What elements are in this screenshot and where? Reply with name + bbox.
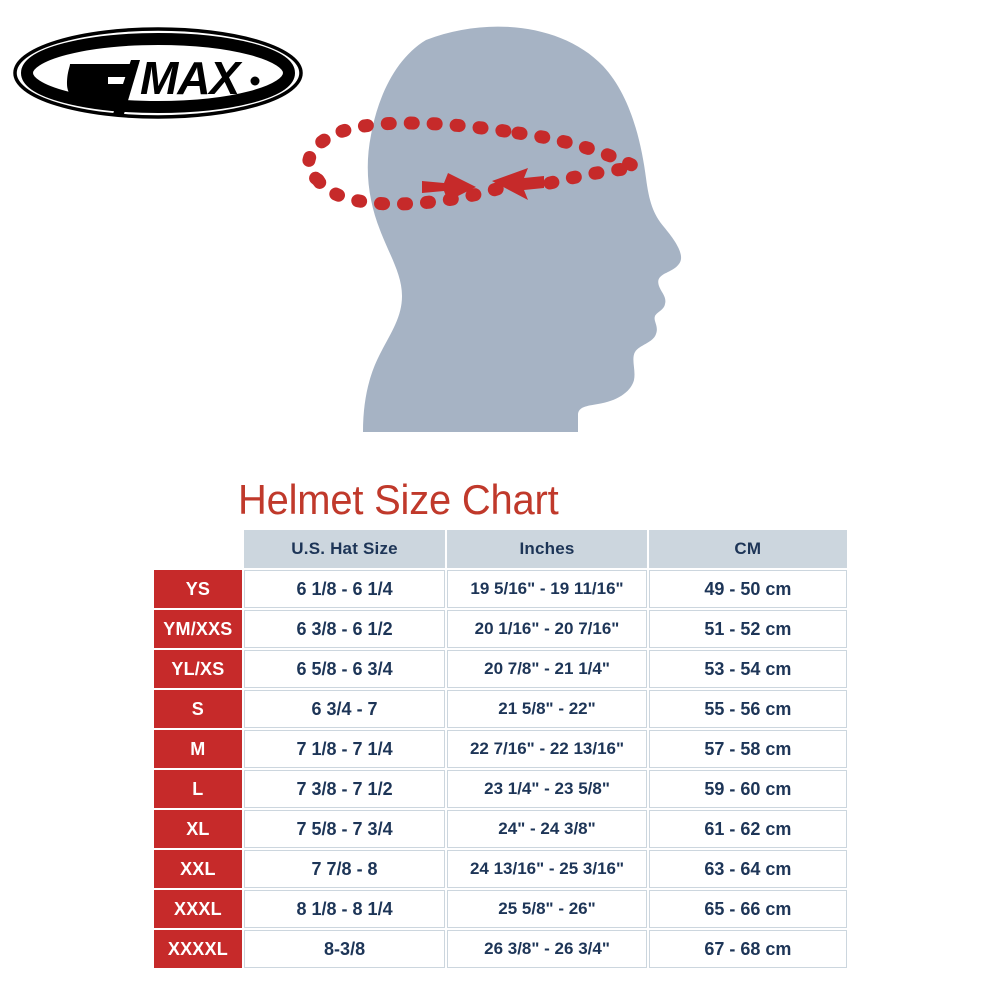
size-label: L — [154, 770, 242, 808]
cm-value: 51 - 52 cm — [649, 610, 847, 648]
cm-value: 49 - 50 cm — [649, 570, 847, 608]
size-label: XXXL — [154, 890, 242, 928]
gmax-logo: MAX — [12, 24, 304, 122]
helmet-size-table: U.S. Hat Size Inches CM YS 6 1/8 - 6 1/4… — [152, 528, 849, 970]
inches-value: 21 5/8" - 22" — [447, 690, 646, 728]
inches-value: 23 1/4" - 23 5/8" — [447, 770, 646, 808]
hat-size-value: 7 5/8 - 7 3/4 — [244, 810, 446, 848]
table-row: YL/XS 6 5/8 - 6 3/4 20 7/8" - 21 1/4" 53… — [154, 650, 847, 688]
cm-value: 53 - 54 cm — [649, 650, 847, 688]
head-measurement-diagram — [278, 18, 728, 458]
inches-value: 25 5/8" - 26" — [447, 890, 646, 928]
hat-size-value: 7 3/8 - 7 1/2 — [244, 770, 446, 808]
inches-value: 24 13/16" - 25 3/16" — [447, 850, 646, 888]
table-row: L 7 3/8 - 7 1/2 23 1/4" - 23 5/8" 59 - 6… — [154, 770, 847, 808]
hat-size-value: 8-3/8 — [244, 930, 446, 968]
table-header-row: U.S. Hat Size Inches CM — [154, 530, 847, 568]
hat-size-value: 6 5/8 - 6 3/4 — [244, 650, 446, 688]
cm-value: 61 - 62 cm — [649, 810, 847, 848]
size-label: YM/XXS — [154, 610, 242, 648]
page-root: MAX Helmet Si — [0, 0, 1000, 1000]
table-row: XXXXL 8-3/8 26 3/8" - 26 3/4" 67 - 68 cm — [154, 930, 847, 968]
size-label: S — [154, 690, 242, 728]
size-label: YS — [154, 570, 242, 608]
header-cm: CM — [649, 530, 847, 568]
table-row: XXL 7 7/8 - 8 24 13/16" - 25 3/16" 63 - … — [154, 850, 847, 888]
header-hat-size: U.S. Hat Size — [244, 530, 446, 568]
cm-value: 55 - 56 cm — [649, 690, 847, 728]
hat-size-value: 8 1/8 - 8 1/4 — [244, 890, 446, 928]
size-label: XL — [154, 810, 242, 848]
inches-value: 22 7/16" - 22 13/16" — [447, 730, 646, 768]
hat-size-value: 6 1/8 - 6 1/4 — [244, 570, 446, 608]
cm-value: 57 - 58 cm — [649, 730, 847, 768]
header-inches: Inches — [447, 530, 646, 568]
table-row: S 6 3/4 - 7 21 5/8" - 22" 55 - 56 cm — [154, 690, 847, 728]
table-row: M 7 1/8 - 7 1/4 22 7/16" - 22 13/16" 57 … — [154, 730, 847, 768]
inches-value: 26 3/8" - 26 3/4" — [447, 930, 646, 968]
header-corner — [154, 530, 242, 568]
head-silhouette — [363, 27, 681, 432]
size-label: YL/XS — [154, 650, 242, 688]
size-label: M — [154, 730, 242, 768]
table-body: YS 6 1/8 - 6 1/4 19 5/16" - 19 11/16" 49… — [154, 570, 847, 968]
inches-value: 20 7/8" - 21 1/4" — [447, 650, 646, 688]
inches-value: 19 5/16" - 19 11/16" — [447, 570, 646, 608]
svg-text:MAX: MAX — [140, 52, 243, 104]
size-label: XXXXL — [154, 930, 242, 968]
page-title: Helmet Size Chart — [238, 478, 559, 522]
table-row: YS 6 1/8 - 6 1/4 19 5/16" - 19 11/16" 49… — [154, 570, 847, 608]
size-label: XXL — [154, 850, 242, 888]
inches-value: 20 1/16" - 20 7/16" — [447, 610, 646, 648]
hat-size-value: 7 1/8 - 7 1/4 — [244, 730, 446, 768]
table-row: YM/XXS 6 3/8 - 6 1/2 20 1/16" - 20 7/16"… — [154, 610, 847, 648]
cm-value: 67 - 68 cm — [649, 930, 847, 968]
hat-size-value: 6 3/8 - 6 1/2 — [244, 610, 446, 648]
cm-value: 59 - 60 cm — [649, 770, 847, 808]
inches-value: 24" - 24 3/8" — [447, 810, 646, 848]
cm-value: 65 - 66 cm — [649, 890, 847, 928]
hat-size-value: 6 3/4 - 7 — [244, 690, 446, 728]
table-row: XXXL 8 1/8 - 8 1/4 25 5/8" - 26" 65 - 66… — [154, 890, 847, 928]
table-row: XL 7 5/8 - 7 3/4 24" - 24 3/8" 61 - 62 c… — [154, 810, 847, 848]
cm-value: 63 - 64 cm — [649, 850, 847, 888]
hat-size-value: 7 7/8 - 8 — [244, 850, 446, 888]
